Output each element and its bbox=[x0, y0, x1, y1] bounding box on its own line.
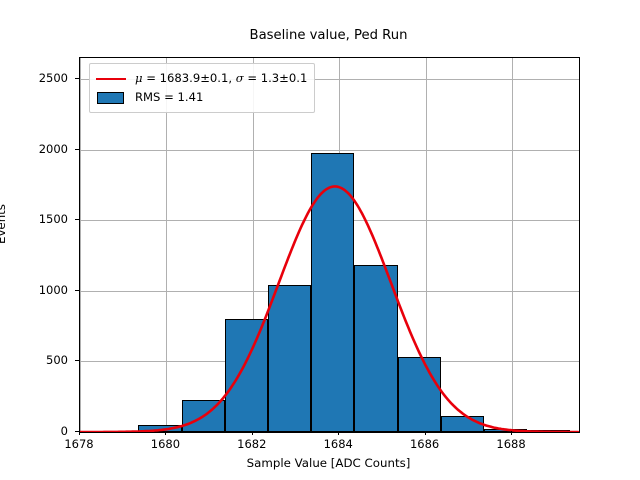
x-tick-label: 1680 bbox=[135, 437, 195, 451]
y-tick-label: 1000 bbox=[0, 283, 68, 297]
x-tick-label: 1682 bbox=[222, 437, 282, 451]
legend-item-histogram-rms: RMS = 1.41 bbox=[96, 88, 307, 107]
y-axis-label: Events bbox=[0, 204, 8, 244]
y-tick-mark bbox=[75, 219, 79, 220]
x-tick-mark bbox=[511, 431, 512, 435]
y-tick-label: 500 bbox=[0, 353, 68, 367]
histogram-bar bbox=[138, 425, 181, 432]
gridline-vertical bbox=[166, 58, 167, 432]
x-tick-mark bbox=[79, 431, 80, 435]
legend-item-gaussian-fit: μ = 1683.9±0.1, σ = 1.3±0.1 bbox=[96, 69, 307, 88]
histogram-bar bbox=[182, 400, 225, 432]
x-tick-label: 1684 bbox=[308, 437, 368, 451]
x-tick-mark bbox=[252, 431, 253, 435]
legend-label-rms: RMS = 1.41 bbox=[135, 92, 203, 104]
y-tick-mark bbox=[75, 431, 79, 432]
histogram-bar bbox=[484, 429, 527, 432]
legend-line-swatch-icon bbox=[96, 72, 126, 86]
y-tick-label: 1500 bbox=[0, 212, 68, 226]
y-tick-mark bbox=[75, 360, 79, 361]
y-tick-label: 2000 bbox=[0, 142, 68, 156]
histogram-bar bbox=[311, 153, 354, 432]
x-axis-label: Sample Value [ADC Counts] bbox=[79, 456, 578, 470]
histogram-bar bbox=[268, 285, 311, 432]
x-tick-mark bbox=[165, 431, 166, 435]
x-tick-mark bbox=[338, 431, 339, 435]
histogram-bar bbox=[441, 416, 484, 432]
plot-axes bbox=[79, 57, 580, 433]
mu-symbol: μ bbox=[135, 71, 143, 85]
histogram-bar bbox=[398, 357, 441, 432]
plot-area bbox=[80, 58, 579, 432]
histogram-bar bbox=[354, 265, 397, 432]
x-tick-mark bbox=[425, 431, 426, 435]
page-title: Baseline value, Ped Run bbox=[79, 28, 578, 43]
matplotlib-figure: Baseline value, Ped Run 1678168016821684… bbox=[0, 0, 640, 480]
x-tick-label: 1678 bbox=[49, 437, 109, 451]
legend: μ = 1683.9±0.1, σ = 1.3±0.1 RMS = 1.41 bbox=[89, 63, 315, 113]
sigma-symbol: σ bbox=[236, 71, 244, 85]
sigma-value: = 1.3±0.1 bbox=[244, 71, 308, 85]
y-tick-label: 0 bbox=[0, 424, 68, 438]
gridline-horizontal bbox=[80, 150, 579, 151]
histogram-bar bbox=[225, 319, 268, 432]
y-tick-mark bbox=[75, 78, 79, 79]
histogram-bar bbox=[527, 430, 570, 432]
legend-label-gaussian-fit: μ = 1683.9±0.1, σ = 1.3±0.1 bbox=[135, 73, 307, 85]
x-tick-label: 1686 bbox=[395, 437, 455, 451]
y-tick-label: 2500 bbox=[0, 71, 68, 85]
x-tick-label: 1688 bbox=[481, 437, 541, 451]
gridline-vertical bbox=[512, 58, 513, 432]
mu-value: = 1683.9±0.1, bbox=[143, 71, 236, 85]
gridline-vertical bbox=[80, 58, 81, 432]
legend-patch-swatch-icon bbox=[96, 91, 126, 105]
y-tick-mark bbox=[75, 149, 79, 150]
y-tick-mark bbox=[75, 290, 79, 291]
